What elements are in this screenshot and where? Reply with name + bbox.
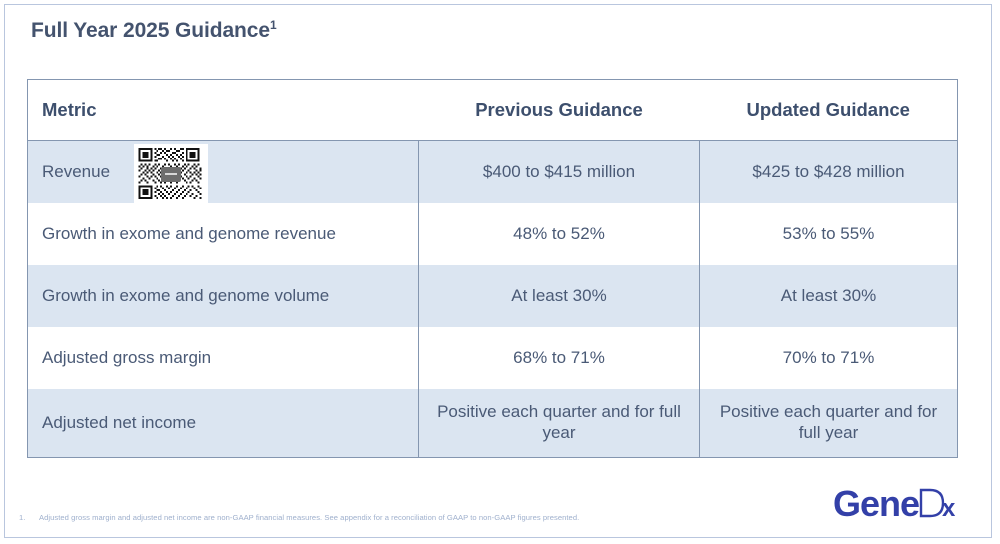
presentation-slide: Full Year 2025 Guidance1 Metric Previous… <box>4 4 992 538</box>
guidance-table: Metric Previous Guidance Updated Guidanc… <box>27 79 958 458</box>
cell-previous-guidance: $400 to $415 million <box>419 141 700 204</box>
table-row: Adjusted gross margin 68% to 71% 70% to … <box>28 327 958 389</box>
cell-previous-guidance: 68% to 71% <box>419 327 700 389</box>
footnote-text: Adjusted gross margin and adjusted net i… <box>39 513 579 522</box>
footnote: 1. Adjusted gross margin and adjusted ne… <box>19 513 579 522</box>
svg-text:x: x <box>942 495 956 522</box>
page-title: Full Year 2025 Guidance1 <box>31 18 277 43</box>
column-header-previous-guidance: Previous Guidance <box>419 80 700 141</box>
page-title-text: Full Year 2025 Guidance <box>31 19 270 42</box>
cell-updated-guidance: $425 to $428 million <box>700 141 958 204</box>
svg-text:Gene: Gene <box>833 483 919 524</box>
cell-previous-guidance: At least 30% <box>419 265 700 327</box>
cell-metric: Adjusted net income <box>28 389 419 458</box>
cell-metric: Adjusted gross margin <box>28 327 419 389</box>
qr-center-logo-mark <box>161 167 181 182</box>
column-header-metric: Metric <box>28 80 419 141</box>
cell-previous-guidance: Positive each quarter and for full year <box>419 389 700 458</box>
cell-updated-guidance: 53% to 55% <box>700 203 958 265</box>
genedx-logo-mark: Gene x <box>833 483 977 527</box>
genedx-logo: Gene x <box>833 483 977 527</box>
cell-updated-guidance: At least 30% <box>700 265 958 327</box>
cell-metric: Revenue <box>28 141 419 204</box>
cell-metric: Growth in exome and genome revenue <box>28 203 419 265</box>
table-row: Growth in exome and genome volume At lea… <box>28 265 958 327</box>
table-header-row: Metric Previous Guidance Updated Guidanc… <box>28 80 958 141</box>
cell-previous-guidance: 48% to 52% <box>419 203 700 265</box>
cell-updated-guidance: Positive each quarter and for full year <box>700 389 958 458</box>
column-header-updated-guidance: Updated Guidance <box>700 80 958 141</box>
table-row: Adjusted net income Positive each quarte… <box>28 389 958 458</box>
qr-code-icon[interactable] <box>134 144 208 203</box>
footnote-number: 1. <box>19 513 29 522</box>
page-title-superscript: 1 <box>270 18 277 32</box>
cell-updated-guidance: 70% to 71% <box>700 327 958 389</box>
cell-metric: Growth in exome and genome volume <box>28 265 419 327</box>
table-row: Growth in exome and genome revenue 48% t… <box>28 203 958 265</box>
